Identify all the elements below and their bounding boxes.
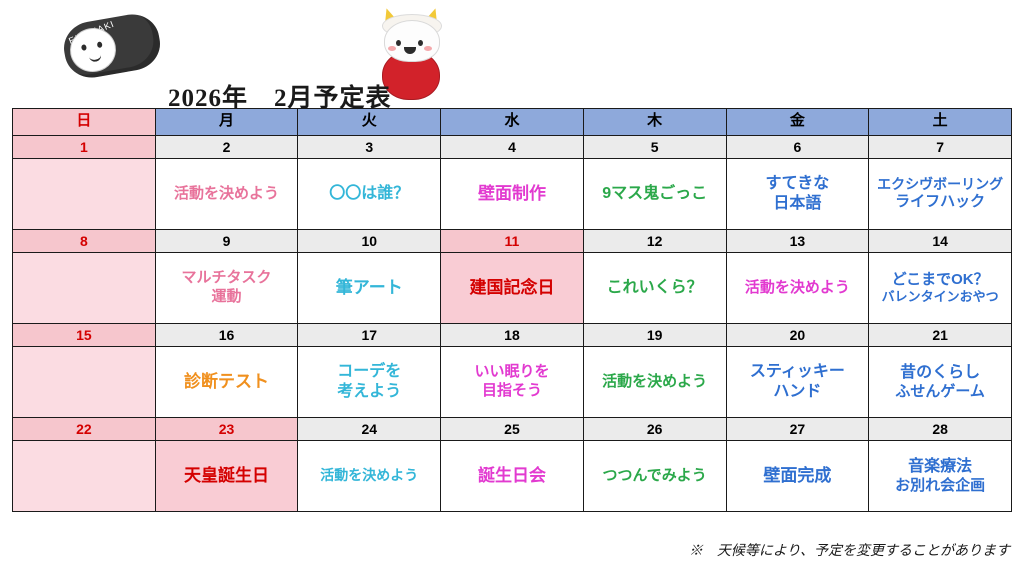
calendar-day-cell[interactable]: 14どこまでOK？バレンタインおやつ bbox=[869, 230, 1012, 324]
calendar-day-cell[interactable]: 27壁面完成 bbox=[726, 418, 869, 512]
calendar-dow-3: 水 bbox=[441, 109, 584, 136]
calendar-day-number: 12 bbox=[584, 230, 726, 253]
calendar-day-cell[interactable]: 15 bbox=[13, 324, 156, 418]
calendar-day-events: コーデを考えよう bbox=[298, 347, 440, 417]
oni-eye-left bbox=[396, 40, 401, 46]
calendar-day-events bbox=[13, 441, 155, 511]
calendar-dow-0: 日 bbox=[13, 109, 156, 136]
calendar-dow-label: 月 bbox=[219, 112, 234, 129]
calendar-day-cell[interactable]: 13活動を決めよう bbox=[726, 230, 869, 324]
calendar-event-text[interactable]: 活動を決めよう bbox=[602, 373, 707, 392]
calendar-day-events: すてきな日本語 bbox=[727, 159, 869, 229]
calendar-day-number: 19 bbox=[584, 324, 726, 347]
calendar-event-text[interactable]: バレンタインおやつ bbox=[882, 289, 999, 305]
calendar-event-text[interactable]: エクシヴボーリング bbox=[877, 176, 1003, 194]
calendar-event-text[interactable]: 筆アート bbox=[336, 277, 403, 298]
calendar-dow-label: 土 bbox=[933, 112, 948, 129]
calendar-event-text[interactable]: スティッキー bbox=[750, 362, 845, 382]
calendar-event-text[interactable]: 昔のくらし bbox=[900, 363, 980, 383]
calendar-day-events: どこまでOK？バレンタインおやつ bbox=[869, 253, 1011, 323]
calendar-day-number: 28 bbox=[869, 418, 1011, 441]
ehomaki-icon: EHOMAKI bbox=[58, 8, 166, 86]
calendar-week-row: 12活動を決めよう3〇〇は誰？4壁面制作59マス鬼ごっこ6すてきな日本語7エクシ… bbox=[13, 136, 1012, 230]
calendar-day-events: スティッキーハンド bbox=[727, 347, 869, 417]
calendar-event-text[interactable]: 音楽療法 bbox=[908, 457, 972, 477]
calendar-event-text[interactable]: コーデを bbox=[337, 362, 401, 382]
oni-eye-right bbox=[418, 40, 423, 46]
calendar-event-text[interactable]: ふせんゲーム bbox=[895, 383, 985, 402]
calendar-day-number: 21 bbox=[869, 324, 1011, 347]
calendar-day-cell[interactable]: 17コーデを考えよう bbox=[298, 324, 441, 418]
calendar-table: 日月火水木金土 12活動を決めよう3〇〇は誰？4壁面制作59マス鬼ごっこ6すてき… bbox=[12, 108, 1012, 512]
ehomaki-mouth bbox=[89, 53, 102, 63]
calendar-day-events: これいくら？ bbox=[584, 253, 726, 323]
calendar-event-text[interactable]: 建国記念日 bbox=[469, 277, 554, 298]
calendar-day-number: 15 bbox=[13, 324, 155, 347]
calendar-day-number: 5 bbox=[584, 136, 726, 159]
calendar-day-cell[interactable]: 8 bbox=[13, 230, 156, 324]
calendar-day-cell[interactable]: 4壁面制作 bbox=[441, 136, 584, 230]
calendar-event-text[interactable]: 活動を決めよう bbox=[320, 467, 418, 485]
calendar-day-number: 7 bbox=[869, 136, 1011, 159]
calendar-dow-label: 火 bbox=[362, 112, 377, 129]
calendar-dow-6: 土 bbox=[869, 109, 1012, 136]
calendar-event-text[interactable]: お別れ会企画 bbox=[895, 477, 985, 496]
calendar-day-number: 3 bbox=[298, 136, 440, 159]
calendar-event-text[interactable]: マルチタスク bbox=[182, 269, 272, 288]
calendar-day-events bbox=[13, 159, 155, 229]
calendar-event-text[interactable]: つつんでみよう bbox=[603, 467, 707, 486]
calendar-event-text[interactable]: 目指そう bbox=[482, 382, 542, 401]
calendar-day-cell[interactable]: 23天皇誕生日 bbox=[155, 418, 298, 512]
calendar-day-number: 25 bbox=[441, 418, 583, 441]
calendar-event-text[interactable]: 壁面制作 bbox=[478, 183, 546, 204]
calendar-day-events bbox=[13, 253, 155, 323]
calendar-day-events: マルチタスク運動 bbox=[156, 253, 298, 323]
calendar-day-number: 14 bbox=[869, 230, 1011, 253]
calendar-event-text[interactable]: 天皇誕生日 bbox=[184, 465, 269, 486]
calendar-day-cell[interactable]: 16診断テスト bbox=[155, 324, 298, 418]
calendar-day-events: 〇〇は誰？ bbox=[298, 159, 440, 229]
calendar-day-number: 20 bbox=[727, 324, 869, 347]
calendar-day-events: 誕生日会 bbox=[441, 441, 583, 511]
calendar-day-cell[interactable]: 21昔のくらしふせんゲーム bbox=[869, 324, 1012, 418]
calendar-day-number: 24 bbox=[298, 418, 440, 441]
calendar-event-text[interactable]: 9マス鬼ごっこ bbox=[602, 184, 707, 204]
oni-head-shape bbox=[384, 20, 440, 62]
calendar-day-number: 27 bbox=[727, 418, 869, 441]
ehomaki-eye-right bbox=[97, 41, 103, 48]
calendar-dow-1: 月 bbox=[155, 109, 298, 136]
calendar-day-cell[interactable]: 20スティッキーハンド bbox=[726, 324, 869, 418]
calendar-event-text[interactable]: どこまでOK？ bbox=[892, 271, 989, 290]
oni-cheek-right bbox=[424, 46, 432, 51]
calendar-day-events: 壁面制作 bbox=[441, 159, 583, 229]
calendar-day-cell[interactable]: 59マス鬼ごっこ bbox=[583, 136, 726, 230]
calendar-event-text[interactable]: 活動を決めよう bbox=[745, 279, 850, 298]
calendar-day-number: 22 bbox=[13, 418, 155, 441]
calendar-day-events: 活動を決めよう bbox=[298, 441, 440, 511]
calendar-day-events: いい眠りを目指そう bbox=[441, 347, 583, 417]
calendar-day-number: 17 bbox=[298, 324, 440, 347]
header-area: EHOMAKI 2026年 2月予定表 bbox=[0, 0, 1024, 108]
calendar-day-events: 音楽療法お別れ会企画 bbox=[869, 441, 1011, 511]
calendar-week-row: 1516診断テスト17コーデを考えよう18いい眠りを目指そう19活動を決めよう2… bbox=[13, 324, 1012, 418]
calendar-dow-label: 金 bbox=[790, 112, 805, 129]
calendar-event-text[interactable]: これいくら？ bbox=[607, 278, 703, 298]
calendar-dow-4: 木 bbox=[583, 109, 726, 136]
calendar-dow-label: 日 bbox=[76, 112, 91, 129]
calendar-event-text[interactable]: ハンド bbox=[773, 382, 821, 402]
calendar-day-cell[interactable]: 25誕生日会 bbox=[441, 418, 584, 512]
footnote: ※ 天候等により、予定を変更することがあります bbox=[689, 540, 1010, 560]
calendar-dow-5: 金 bbox=[726, 109, 869, 136]
calendar-day-cell[interactable]: 1 bbox=[13, 136, 156, 230]
calendar-day-number: 23 bbox=[156, 418, 298, 441]
calendar-day-cell[interactable]: 26つつんでみよう bbox=[583, 418, 726, 512]
calendar-event-text[interactable]: 考えよう bbox=[337, 382, 401, 402]
calendar-day-events: つつんでみよう bbox=[584, 441, 726, 511]
calendar-day-number: 13 bbox=[727, 230, 869, 253]
calendar-day-events: 昔のくらしふせんゲーム bbox=[869, 347, 1011, 417]
calendar-event-text[interactable]: いい眠りを bbox=[474, 363, 549, 382]
calendar-day-events: 筆アート bbox=[298, 253, 440, 323]
calendar-day-number: 10 bbox=[298, 230, 440, 253]
calendar-day-cell[interactable]: 12これいくら？ bbox=[583, 230, 726, 324]
calendar-day-cell[interactable]: 9マルチタスク運動 bbox=[155, 230, 298, 324]
calendar-event-text[interactable]: 誕生日会 bbox=[478, 465, 546, 486]
calendar-event-text[interactable]: 日本語 bbox=[773, 194, 821, 214]
calendar-week-row: 89マルチタスク運動10筆アート11建国記念日12これいくら？13活動を決めよう… bbox=[13, 230, 1012, 324]
calendar-day-number: 18 bbox=[441, 324, 583, 347]
calendar-day-number: 4 bbox=[441, 136, 583, 159]
calendar-day-events: エクシヴボーリングライフハック bbox=[869, 159, 1011, 229]
calendar-day-events: 活動を決めよう bbox=[156, 159, 298, 229]
calendar-day-cell[interactable]: 28音楽療法お別れ会企画 bbox=[869, 418, 1012, 512]
calendar-day-events: 診断テスト bbox=[156, 347, 298, 417]
calendar-day-cell[interactable]: 19活動を決めよう bbox=[583, 324, 726, 418]
calendar-day-cell[interactable]: 24活動を決めよう bbox=[298, 418, 441, 512]
calendar-day-cell[interactable]: 6すてきな日本語 bbox=[726, 136, 869, 230]
ehomaki-eye-left bbox=[81, 44, 87, 51]
calendar-day-events: 活動を決めよう bbox=[584, 347, 726, 417]
calendar-day-number: 26 bbox=[584, 418, 726, 441]
calendar-day-events: 天皇誕生日 bbox=[156, 441, 298, 511]
calendar-dow-label: 水 bbox=[504, 112, 519, 129]
calendar-day-cell[interactable]: 2活動を決めよう bbox=[155, 136, 298, 230]
calendar-day-cell[interactable]: 7エクシヴボーリングライフハック bbox=[869, 136, 1012, 230]
calendar-event-text[interactable]: 壁面完成 bbox=[763, 465, 831, 486]
calendar-day-number: 9 bbox=[156, 230, 298, 253]
calendar-dow-label: 木 bbox=[647, 112, 662, 129]
calendar-day-cell[interactable]: 18いい眠りを目指そう bbox=[441, 324, 584, 418]
calendar-day-number: 6 bbox=[727, 136, 869, 159]
calendar-day-number: 11 bbox=[441, 230, 583, 253]
calendar-day-events: 壁面完成 bbox=[727, 441, 869, 511]
calendar-day-events: 建国記念日 bbox=[441, 253, 583, 323]
calendar-event-text[interactable]: 運動 bbox=[212, 288, 242, 307]
calendar-day-cell[interactable]: 11建国記念日 bbox=[441, 230, 584, 324]
calendar-day-cell[interactable]: 22 bbox=[13, 418, 156, 512]
calendar-day-cell[interactable]: 3〇〇は誰？ bbox=[298, 136, 441, 230]
calendar-day-number: 8 bbox=[13, 230, 155, 253]
calendar-day-cell[interactable]: 10筆アート bbox=[298, 230, 441, 324]
calendar-event-text[interactable]: 活動を決めよう bbox=[174, 185, 279, 204]
calendar-event-text[interactable]: ライフハック bbox=[895, 193, 985, 212]
calendar-dow-2: 火 bbox=[298, 109, 441, 136]
oni-cheek-left bbox=[388, 46, 396, 51]
calendar-header-row: 日月火水木金土 bbox=[13, 109, 1012, 136]
calendar-day-events: 活動を決めよう bbox=[727, 253, 869, 323]
calendar-event-text[interactable]: すてきな bbox=[766, 174, 830, 194]
calendar-day-number: 2 bbox=[156, 136, 298, 159]
calendar-day-number: 1 bbox=[13, 136, 155, 159]
calendar-event-text[interactable]: 診断テスト bbox=[184, 371, 269, 392]
calendar-day-number: 16 bbox=[156, 324, 298, 347]
calendar-day-events: 9マス鬼ごっこ bbox=[584, 159, 726, 229]
calendar-week-row: 2223天皇誕生日24活動を決めよう25誕生日会26つつんでみよう27壁面完成2… bbox=[13, 418, 1012, 512]
calendar-day-events bbox=[13, 347, 155, 417]
calendar-event-text[interactable]: 〇〇は誰？ bbox=[329, 184, 409, 204]
